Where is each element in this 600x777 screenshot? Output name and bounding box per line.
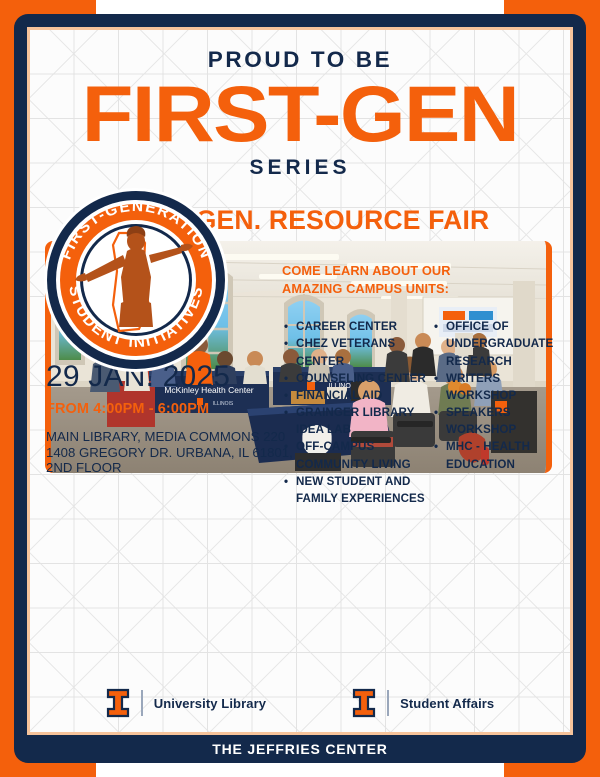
address-line-2: 1408 GREGORY DR. URBANA, IL 61801,	[46, 445, 296, 461]
list-item: CHEZ VETERANS CENTER	[282, 335, 432, 369]
logo-university-library: University Library	[106, 688, 266, 718]
list-item: WRITERS WORKSHOP	[432, 370, 562, 404]
list-item: COUNSELING CENTER	[282, 370, 432, 387]
series-label: SERIES	[30, 156, 570, 180]
list-item: FINANCIAL AID	[282, 387, 432, 404]
list-item: NEW STUDENT AND FAMILY EXPERIENCES	[282, 473, 432, 507]
units-heading-line-2: AMAZING CAMPUS UNITS:	[282, 280, 562, 298]
list-item: SPEAKERS WORKSHOP	[432, 404, 562, 438]
list-item: CAREER CENTER	[282, 318, 432, 335]
footer-logos: University Library Student Affairs	[30, 688, 570, 718]
event-address: MAIN LIBRARY, MEDIA COMMONS 220 1408 GRE…	[46, 429, 296, 476]
bottom-white-gap	[96, 761, 504, 777]
units-column-left: CAREER CENTER CHEZ VETERANS CENTER COUNS…	[282, 318, 432, 507]
list-item: OFF-CAMPUS COMMUNITY LIVING	[282, 438, 432, 472]
logo-divider	[141, 690, 143, 716]
bottom-band: THE JEFFRIES CENTER	[30, 735, 570, 763]
logo-label: University Library	[154, 696, 266, 711]
illinois-block-i-icon	[106, 688, 130, 718]
units-heading-line-1: COME LEARN ABOUT OUR	[282, 262, 562, 280]
event-details: 29 JAN. 2025 FROM 4:00PM - 6:00PM MAIN L…	[46, 360, 296, 476]
logo-student-affairs: Student Affairs	[352, 688, 494, 718]
bottom-band-text: THE JEFFRIES CENTER	[212, 741, 387, 757]
poster: PROUD TO BE FIRST-GEN SERIES FIRST-GEN. …	[0, 0, 600, 777]
event-time: FROM 4:00PM - 6:00PM	[46, 401, 296, 417]
campus-units-section: COME LEARN ABOUT OUR AMAZING CAMPUS UNIT…	[282, 262, 562, 507]
units-heading: COME LEARN ABOUT OUR AMAZING CAMPUS UNIT…	[282, 262, 562, 298]
logo-divider	[387, 690, 389, 716]
poster-content: PROUD TO BE FIRST-GEN SERIES FIRST-GEN. …	[30, 30, 570, 732]
address-line-3: 2ND FLOOR	[46, 460, 296, 476]
illinois-block-i-icon	[352, 688, 376, 718]
list-item: OFFICE OF UNDERGRADUATE RESEARCH	[432, 318, 562, 369]
page-title: FIRST-GEN	[30, 77, 570, 150]
logo-label: Student Affairs	[400, 696, 494, 711]
address-line-1: MAIN LIBRARY, MEDIA COMMONS 220	[46, 429, 296, 445]
list-item: GRAINGER LIBRARY IDEA LAB	[282, 404, 432, 438]
list-item: MHC - HEALTH EDUCATION	[432, 438, 562, 472]
first-generation-seal: FIRST-GENERATION STUDENT INITIATIVES	[41, 185, 231, 375]
units-column-right: OFFICE OF UNDERGRADUATE RESEARCH WRITERS…	[432, 318, 562, 507]
